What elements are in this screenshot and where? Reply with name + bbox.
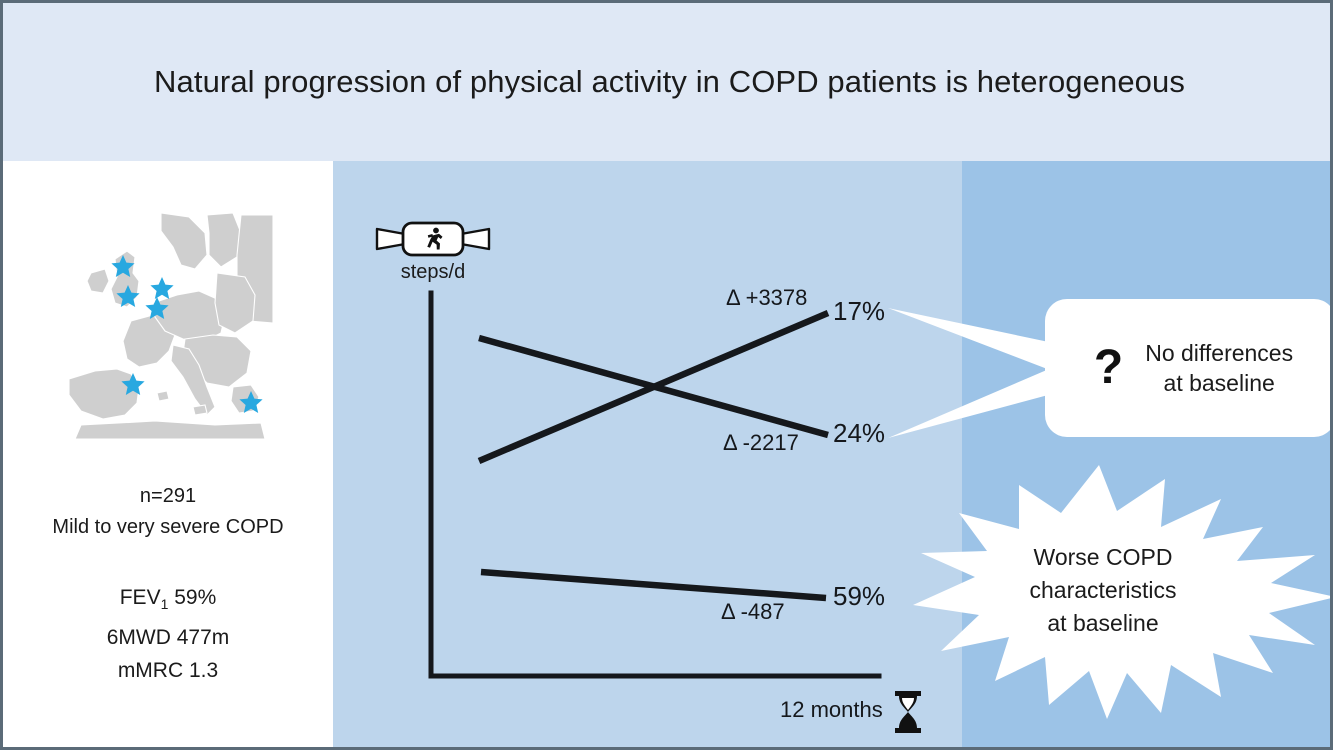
y-axis-label: steps/d xyxy=(375,261,491,284)
page-title: Natural progression of physical activity… xyxy=(3,3,1333,161)
callout-no-differences-text: No differences at baseline xyxy=(1145,338,1293,398)
delta-label-improvers: Δ +3378 xyxy=(726,285,807,311)
burst-line-2: characteristics xyxy=(963,574,1243,607)
stat-6mwd: 6MWD 477m xyxy=(3,621,333,654)
europe-map xyxy=(65,211,275,441)
burst-line-3: at baseline xyxy=(963,607,1243,640)
question-mark-icon: ? xyxy=(1094,344,1123,392)
cohort-n: n=291 xyxy=(3,481,333,512)
callout-worse-copd-text: Worse COPD characteristics at baseline xyxy=(963,541,1243,640)
burst-line-1: Worse COPD xyxy=(963,541,1243,574)
chart-axes xyxy=(431,293,879,676)
stat-fev1-subscript: 1 xyxy=(161,596,169,612)
callout-line-1: No differences xyxy=(1145,340,1293,366)
stat-fev1-value: 59% xyxy=(174,586,216,609)
baseline-statistics: FEV1 59% 6MWD 477m mMRC 1.3 xyxy=(3,581,333,687)
graphical-abstract: Natural progression of physical activity… xyxy=(0,0,1333,750)
activity-tracker-icon xyxy=(375,219,491,259)
x-axis-label: 12 months xyxy=(780,697,883,723)
delta-label-decliners: Δ -2217 xyxy=(723,430,799,456)
cohort-severity: Mild to very severe COPD xyxy=(3,512,333,543)
percent-label-decliners: 24% xyxy=(833,418,885,449)
stat-fev1-label: FEV xyxy=(120,586,161,609)
callout-no-differences-content: ? No differences at baseline xyxy=(1045,299,1333,437)
trend-line-stable xyxy=(481,572,826,598)
stat-fev1: FEV1 59% xyxy=(3,581,333,621)
percent-label-stable: 59% xyxy=(833,581,885,612)
stat-mmrc: mMRC 1.3 xyxy=(3,654,333,687)
callout-line-2: at baseline xyxy=(1164,370,1275,396)
percent-label-improvers: 17% xyxy=(833,296,885,327)
delta-label-stable: Δ -487 xyxy=(721,599,785,625)
trend-line-decliners xyxy=(479,338,828,435)
cohort-summary: n=291 Mild to very severe COPD xyxy=(3,481,333,543)
